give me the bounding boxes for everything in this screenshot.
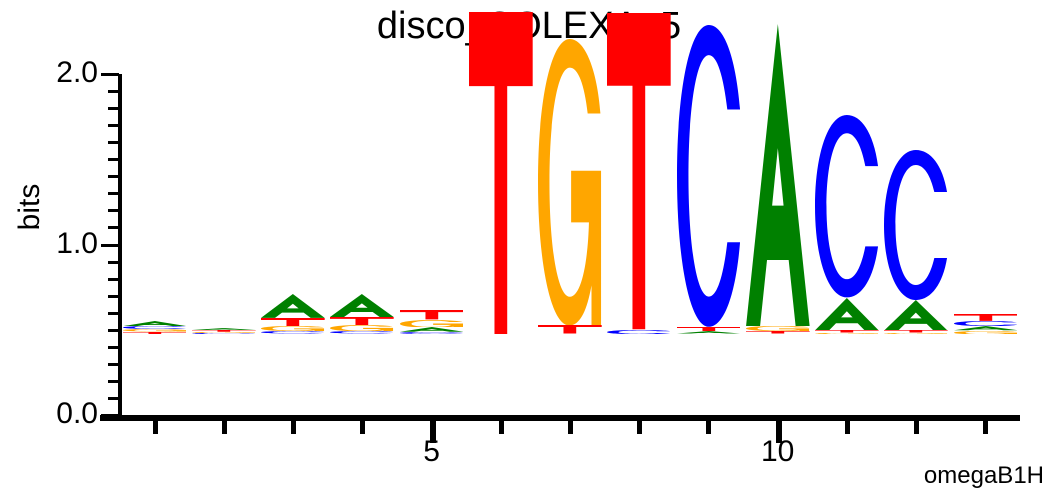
logo-letter-c [677, 25, 741, 327]
logo-stack [330, 294, 394, 334]
logo-stack [261, 294, 325, 334]
x-tick-minor [568, 421, 573, 434]
logo-letter-a [330, 294, 394, 317]
logo-letter-c [884, 150, 948, 300]
x-tick-minor [637, 421, 642, 434]
logo-stack [884, 150, 948, 334]
x-axis-name: omegaB1H [924, 462, 1044, 490]
logo-stack [954, 314, 1018, 334]
logo-letter-c [400, 332, 464, 334]
logo-letter-g [400, 320, 464, 328]
logo-letter-c [607, 330, 671, 334]
logo-stack [538, 39, 602, 334]
logo-stack [123, 321, 187, 334]
logo-stack [607, 13, 671, 334]
x-tick-minor [983, 421, 988, 434]
logo-letter-t [330, 317, 394, 325]
logo-letter-t [123, 332, 187, 334]
logo-letter-t [469, 12, 533, 334]
logo-letter-t [954, 314, 1018, 321]
logo-stack [815, 115, 879, 334]
logo-stack [400, 310, 464, 334]
x-tick-minor [499, 421, 504, 434]
logo-letter-t [607, 13, 671, 329]
logo-letter-c [261, 331, 325, 334]
x-tick-minor [845, 421, 850, 434]
logo-letter-t [538, 325, 602, 334]
logo-letter-a [261, 294, 325, 318]
logo-letter-g [884, 333, 948, 334]
logo-letter-a [815, 298, 879, 330]
logo-letter-t [400, 310, 464, 319]
x-tick-minor [153, 421, 158, 434]
logo-stack [677, 25, 741, 334]
x-tick-minor [360, 421, 365, 434]
logo-stacks [0, 0, 1058, 415]
logo-letter-c [815, 115, 879, 297]
logo-letter-a [746, 24, 810, 327]
x-tick-minor [222, 421, 227, 434]
logo-stack [469, 12, 533, 334]
x-tick-minor [914, 421, 919, 434]
logo-stack [746, 24, 810, 334]
x-tick-minor [291, 421, 296, 434]
logo-letter-g [815, 333, 879, 334]
x-tick-minor [706, 421, 711, 434]
logo-letter-t [746, 331, 810, 334]
logo-letter-g [538, 39, 602, 325]
x-tick-label: 5 [402, 436, 462, 468]
sequence-logo-figure: disco_SOLEXA_5 bits 0.01.02.0 510 omegaB… [0, 0, 1058, 496]
logo-letter-c [330, 331, 394, 334]
logo-letter-a [884, 300, 948, 331]
logo-stack [192, 328, 256, 334]
logo-letter-t [261, 318, 325, 327]
x-axis-line [100, 415, 1020, 421]
logo-letter-a [677, 331, 741, 334]
x-tick-label: 10 [748, 436, 808, 468]
logo-letter-c [192, 333, 256, 334]
logo-letter-g [954, 331, 1018, 334]
